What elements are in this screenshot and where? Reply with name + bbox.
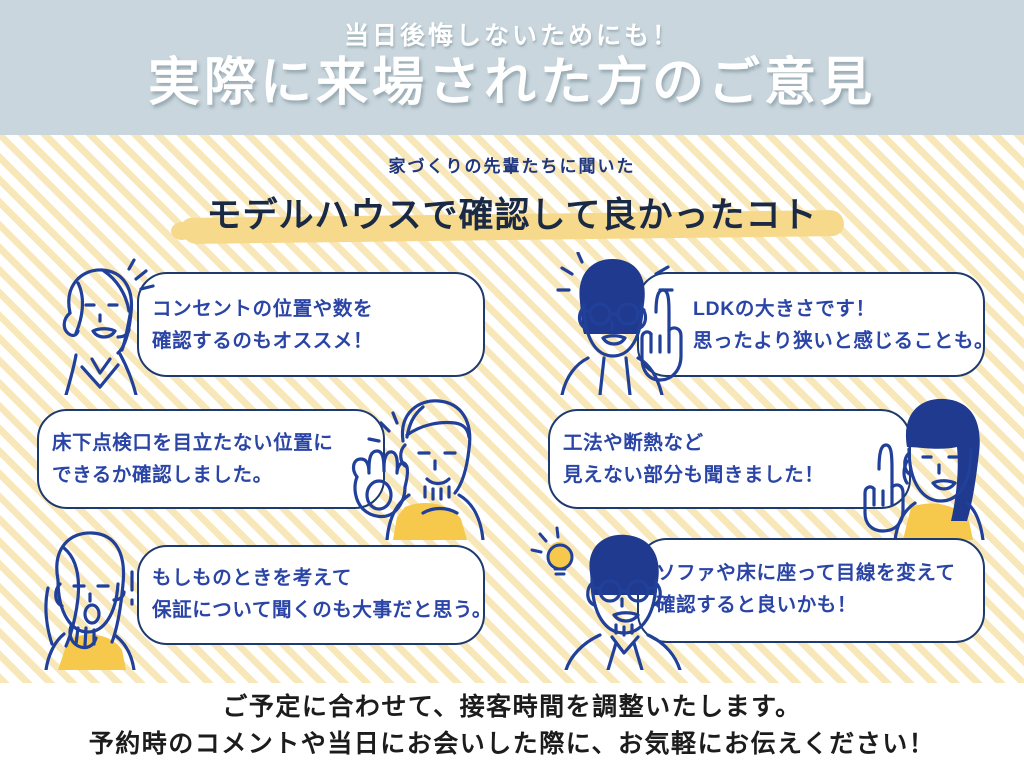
page-footer: ご予定に合わせて、接客時間を調整いたします。 予約時のコメントや当日にお会いした… (0, 683, 1024, 768)
testimonial-text-3: 床下点検口を目立たない位置に できるか確認しました。 (52, 428, 333, 491)
page-title: 実際に来場された方のご意見 (148, 55, 876, 111)
footer-line1-highlight: 接客時間を調整 (460, 689, 646, 725)
section-title-wrapper: モデルハウスで確認して良かったコト (0, 185, 1024, 242)
footer-line-2: 予約時のコメントや当日にお会いした際に、お気軽にお伝えください！ (89, 726, 936, 762)
footer-line1-pre: ご予定に合わせて、 (222, 693, 459, 721)
footer-line-1: ご予定に合わせて、接客時間を調整いたします。 (222, 689, 801, 725)
testimonial-text-2: LDKの大きさです！ 思ったより狭いと感じることも。 (693, 294, 994, 357)
section-subtitle: 家づくりの先輩たちに聞いた (0, 152, 1024, 177)
testimonial-text-4: 工法や断熱など 見えない部分も聞きました！ (563, 428, 824, 491)
testimonial-text-6: ソファや床に座って目線を変えて 確認すると良いかも！ (656, 558, 956, 621)
section-title: モデルハウスで確認して良かったコト (181, 185, 844, 242)
testimonial-text-1: コンセントの位置や数を 確認するのもオススメ！ (152, 294, 373, 357)
testimonial-text-5: もしものときを考えて 保証について聞くのも大事だと思う。 (152, 563, 492, 626)
header-subtitle: 当日後悔しないためにも！ (344, 24, 680, 49)
page-header: 当日後悔しないためにも！ 実際に来場された方のご意見 (0, 0, 1024, 135)
footer-line1-post: いたします。 (645, 693, 802, 721)
infographic-page: 当日後悔しないためにも！ 実際に来場された方のご意見 家づくりの先輩たちに聞いた… (0, 0, 1024, 768)
